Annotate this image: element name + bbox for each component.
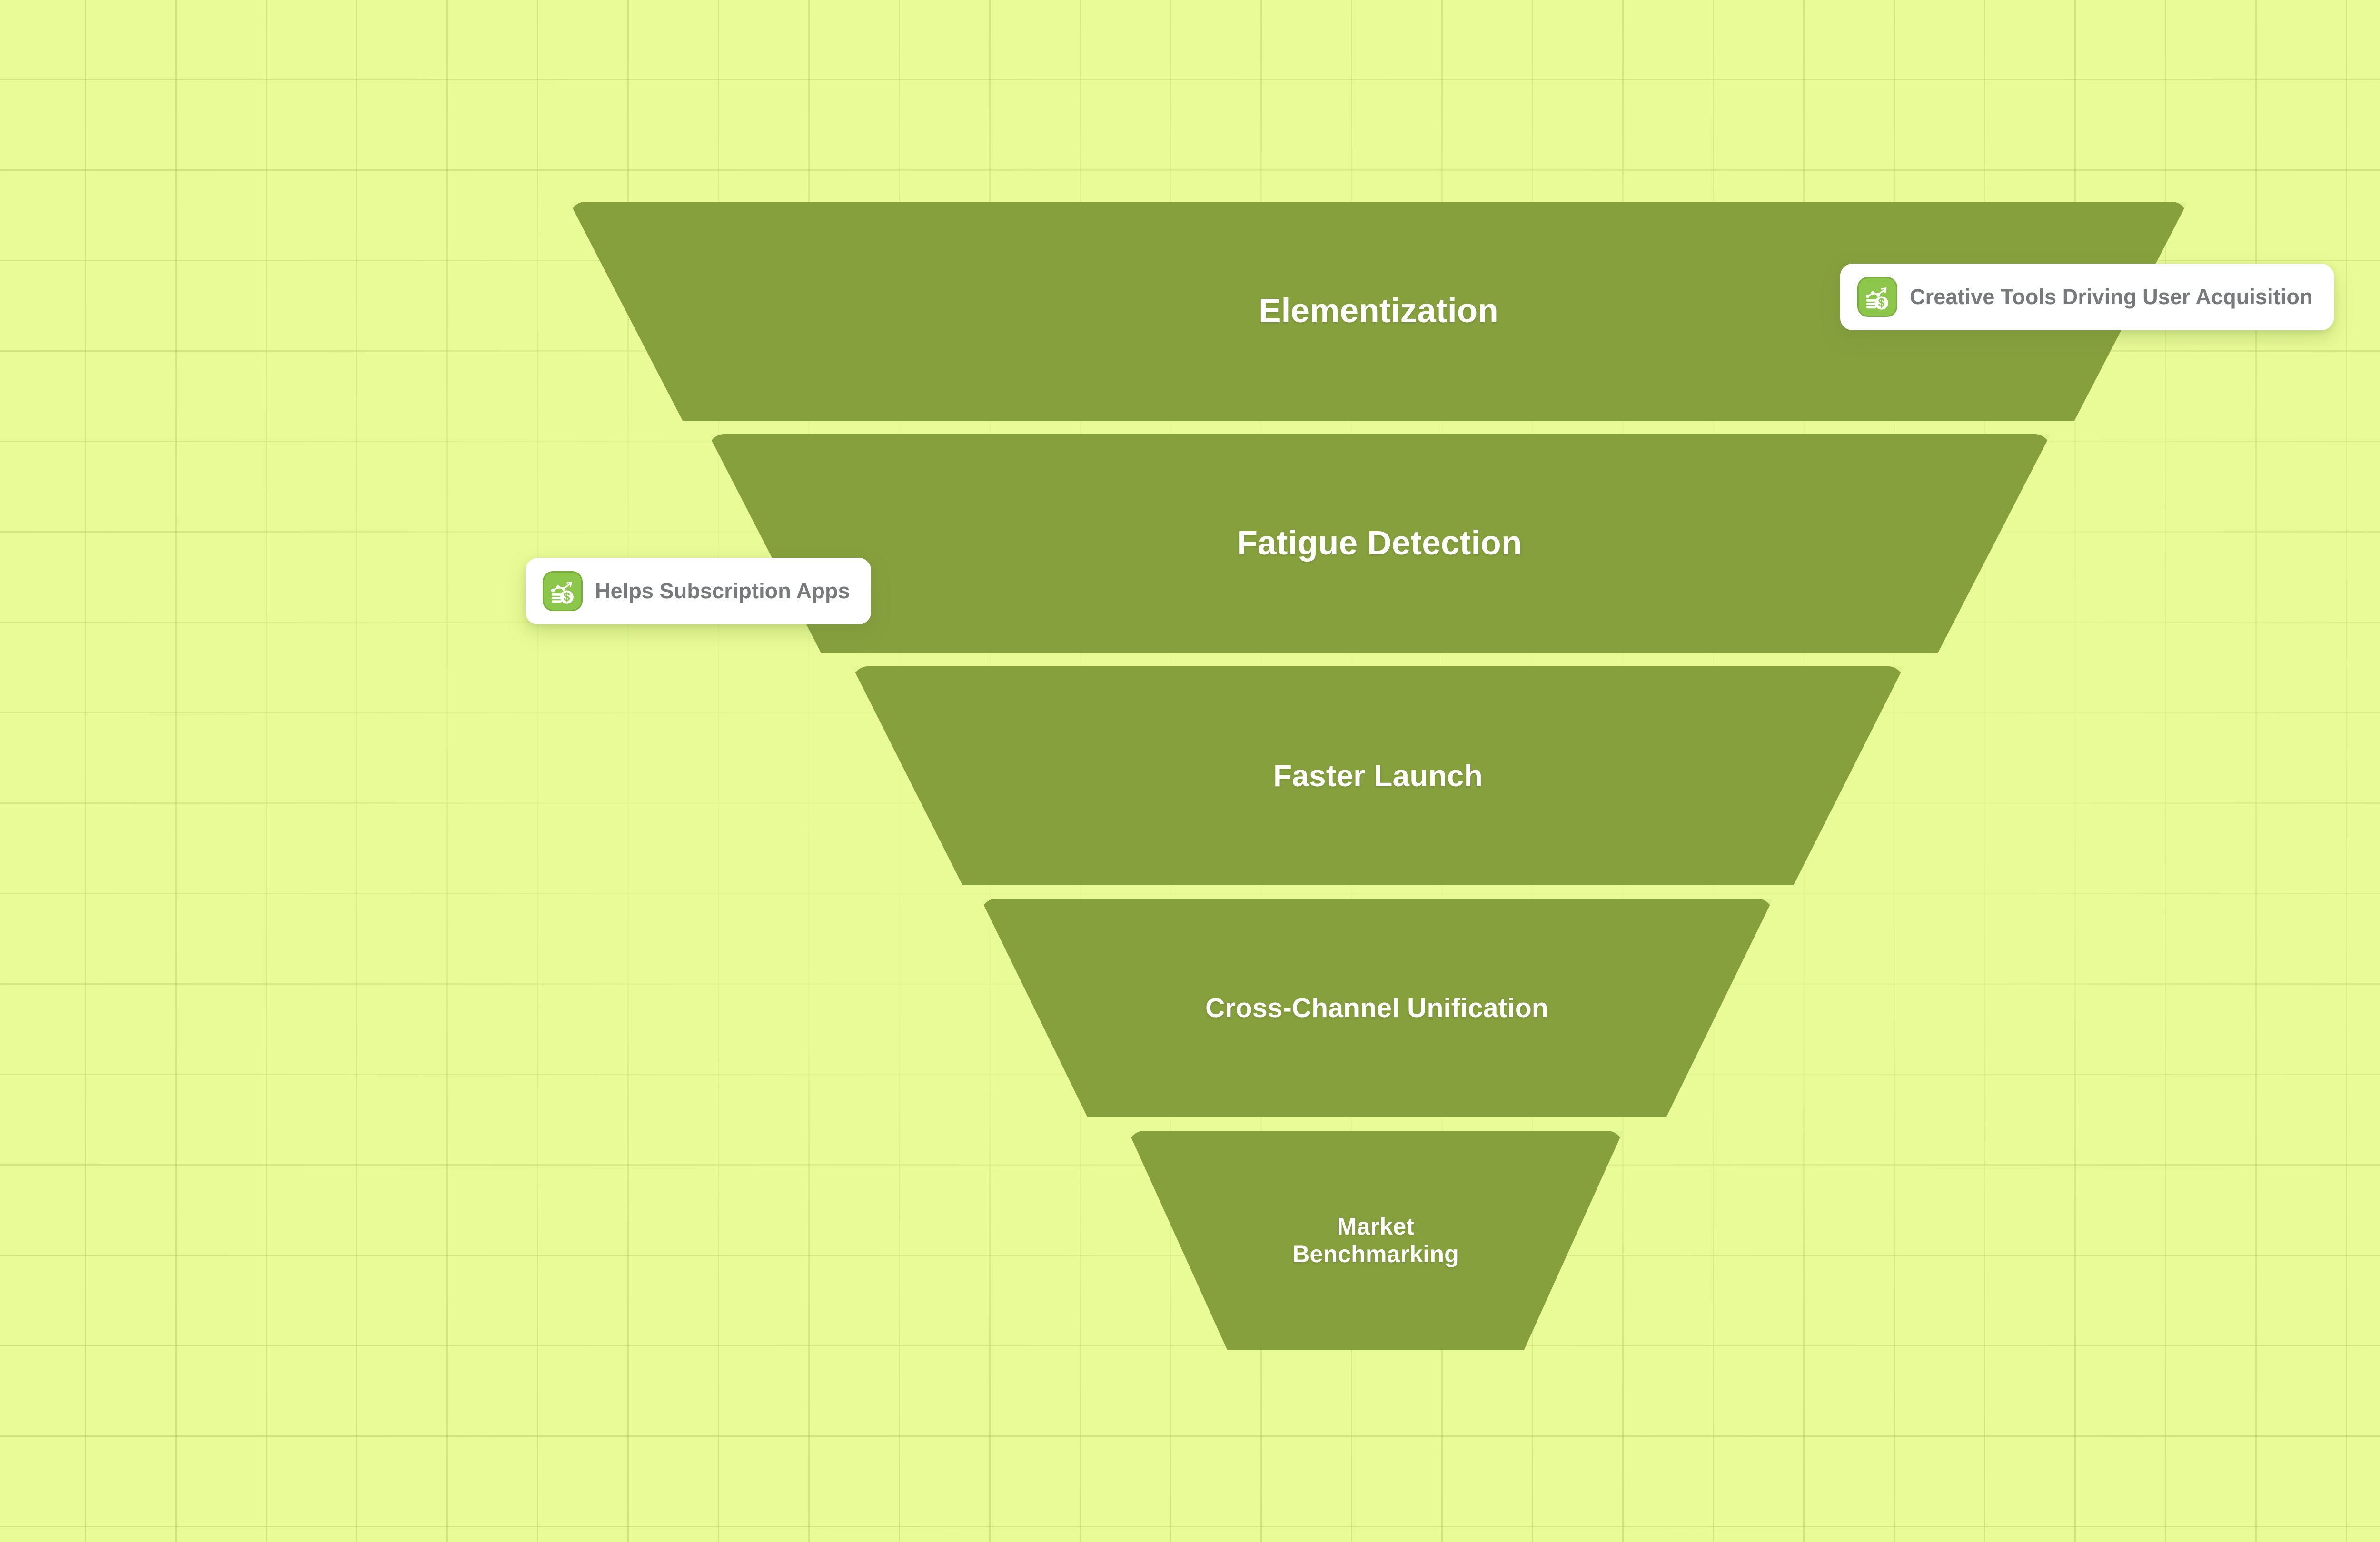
funnel-segment-faster-launch[interactable]: Faster Launch — [852, 666, 1904, 885]
annotation-callout-subscription-apps[interactable]: Helps Subscription Apps — [526, 558, 871, 624]
annotation-callout-creative-tools[interactable]: Creative Tools Driving User Acquisition — [1840, 264, 2334, 330]
funnel-chart: Elementization Fatigue Detection Faster … — [0, 0, 2380, 1542]
funnel-segment-fatigue-detection[interactable]: Fatigue Detection — [708, 434, 2051, 653]
funnel-segment-cross-channel-unification[interactable]: Cross-Channel Unification — [981, 899, 1773, 1117]
growth-chart-money-icon — [1857, 277, 1897, 317]
annotation-callout-label: Helps Subscription Apps — [595, 579, 850, 603]
annotation-callout-label: Creative Tools Driving User Acquisition — [1910, 285, 2313, 309]
growth-chart-money-icon — [543, 571, 583, 611]
funnel-segment-market-benchmarking[interactable]: Market Benchmarking — [1128, 1131, 1623, 1350]
funnel-segment-label: Elementization — [1259, 292, 1498, 331]
funnel-segment-label: Faster Launch — [1273, 758, 1483, 793]
funnel-segment-label: Market Benchmarking — [1292, 1213, 1459, 1268]
funnel-segment-label: Fatigue Detection — [1237, 524, 1522, 563]
funnel-segment-label: Cross-Channel Unification — [1205, 992, 1548, 1024]
